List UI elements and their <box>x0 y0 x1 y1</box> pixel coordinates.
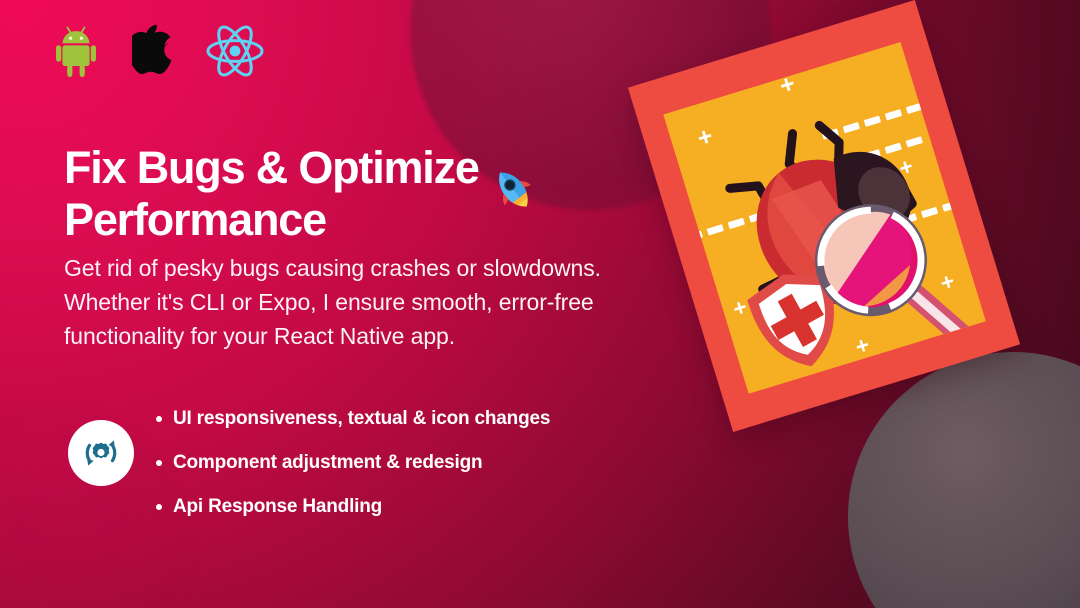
dash-mark <box>866 362 883 373</box>
headline-text: Fix Bugs & Optimize Performance <box>64 142 479 246</box>
feature-list-block: UI responsiveness, textual & icon change… <box>68 406 550 520</box>
react-icon <box>204 23 266 84</box>
dash-mark <box>887 355 904 366</box>
list-item-label: Api Response Handling <box>173 494 382 520</box>
yellow-inner-panel: + + + + + + + <box>663 42 986 394</box>
dash-mark <box>908 349 925 360</box>
tilted-red-card: + + + + + + + <box>628 0 1020 432</box>
page-title: Fix Bugs & Optimize Performance <box>64 142 624 246</box>
bug-debugging-illustration: + + + + + + + <box>588 10 1068 570</box>
feature-list: UI responsiveness, textual & icon change… <box>156 406 550 520</box>
dash-mark <box>702 79 719 90</box>
promo-banner: Fix Bugs & Optimize Performance <box>0 0 1080 608</box>
list-item: Api Response Handling <box>156 494 550 520</box>
bullet-dot-icon <box>156 504 162 510</box>
dash-mark <box>723 73 740 84</box>
dash-mark <box>744 66 761 77</box>
bullet-dot-icon <box>156 460 162 466</box>
list-item: UI responsiveness, textual & icon change… <box>156 406 550 432</box>
dash-mark <box>845 368 862 379</box>
bullet-dot-icon <box>156 416 162 422</box>
dash-mark <box>681 86 698 97</box>
list-item-label: Component adjustment & redesign <box>173 450 482 476</box>
apple-icon <box>132 24 176 83</box>
content-column: Fix Bugs & Optimize Performance <box>0 0 640 608</box>
android-icon <box>56 24 104 83</box>
gear-refresh-icon <box>68 420 134 486</box>
platform-icon-row <box>56 22 266 84</box>
list-item-label: UI responsiveness, textual & icon change… <box>173 406 550 432</box>
list-item: Component adjustment & redesign <box>156 450 550 476</box>
subtitle-text: Get rid of pesky bugs causing crashes or… <box>64 251 609 353</box>
rocket-icon <box>489 165 537 224</box>
